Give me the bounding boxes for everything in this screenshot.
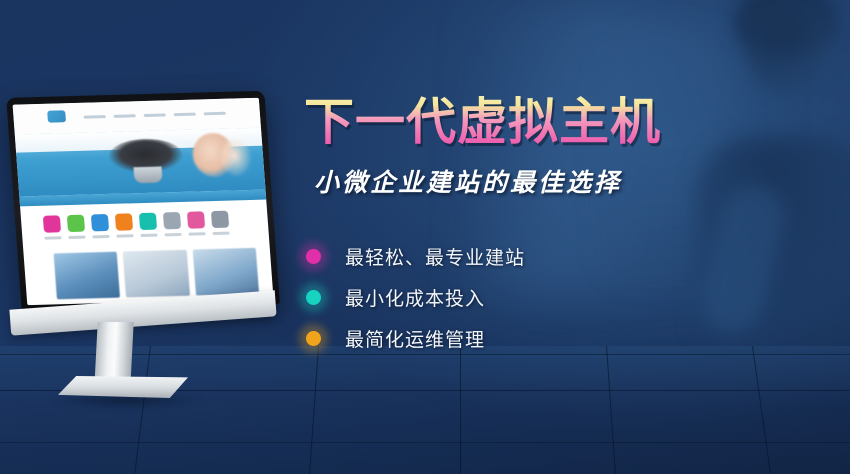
feature-label: 最小化成本投入: [345, 284, 485, 311]
mock-app-icon-labels: [44, 232, 229, 240]
mock-card-row: [54, 248, 259, 300]
mock-icon-label: [164, 233, 181, 236]
mock-icon-label: [68, 236, 85, 239]
headline: 下一代虚拟主机: [304, 96, 724, 149]
subheadline: 小微企业建站的最佳选择: [314, 163, 724, 199]
feature-list-item: 最轻松、最专业建站: [306, 243, 724, 270]
mock-nav-item: [174, 113, 196, 117]
banner-copy-block: 下一代虚拟主机 小微企业建站的最佳选择 最轻松、最专业建站 最小化成本投入 最简…: [304, 96, 724, 366]
bullet-dot-magenta: [306, 249, 321, 264]
mock-nav-item: [84, 115, 106, 119]
promo-banner: 下一代虚拟主机 小微企业建站的最佳选择 最轻松、最专业建站 最小化成本投入 最简…: [0, 0, 850, 474]
mock-app-icon: [187, 211, 205, 228]
feature-label: 最轻松、最专业建站: [345, 243, 525, 270]
feature-list-item: 最简化运维管理: [306, 325, 724, 352]
mock-app-icon: [115, 213, 133, 230]
feature-label: 最简化运维管理: [345, 325, 485, 352]
mock-app-icon: [211, 211, 229, 228]
bullet-dot-orange: [306, 331, 321, 346]
mock-app-icon: [139, 213, 157, 230]
mock-icon-label: [140, 234, 157, 237]
mock-icon-label: [212, 232, 229, 235]
mock-site-logo: [47, 110, 66, 122]
monitor-screen-content: [13, 98, 274, 305]
mock-app-icon: [43, 215, 61, 232]
feature-list: 最轻松、最专业建站 最小化成本投入 最简化运维管理: [306, 243, 724, 352]
person-head: [746, 0, 832, 96]
feature-list-item: 最小化成本投入: [306, 284, 724, 311]
floor-horizontal-line: [0, 442, 850, 443]
mock-app-icon: [163, 212, 181, 229]
mock-nav-item: [114, 114, 136, 118]
mock-icon-label: [92, 235, 109, 238]
mock-icon-label: [116, 234, 133, 237]
bullet-dot-teal: [306, 290, 321, 305]
monitor-product-image: [8, 78, 286, 398]
mock-card: [54, 252, 121, 300]
mock-app-icon: [67, 215, 85, 232]
mock-card: [192, 248, 259, 296]
mock-app-icon-row: [43, 211, 229, 233]
mock-icon-label: [44, 236, 61, 239]
mock-hero-object-stand: [134, 167, 163, 184]
monitor-display: [6, 91, 280, 312]
mock-card: [123, 250, 190, 298]
monitor-stand-base: [58, 376, 188, 398]
mock-nav-item: [144, 113, 166, 117]
mock-icon-label: [188, 232, 205, 235]
mock-nav-item: [204, 112, 226, 116]
monitor-bezel: [6, 91, 280, 312]
mock-app-icon: [91, 214, 109, 231]
